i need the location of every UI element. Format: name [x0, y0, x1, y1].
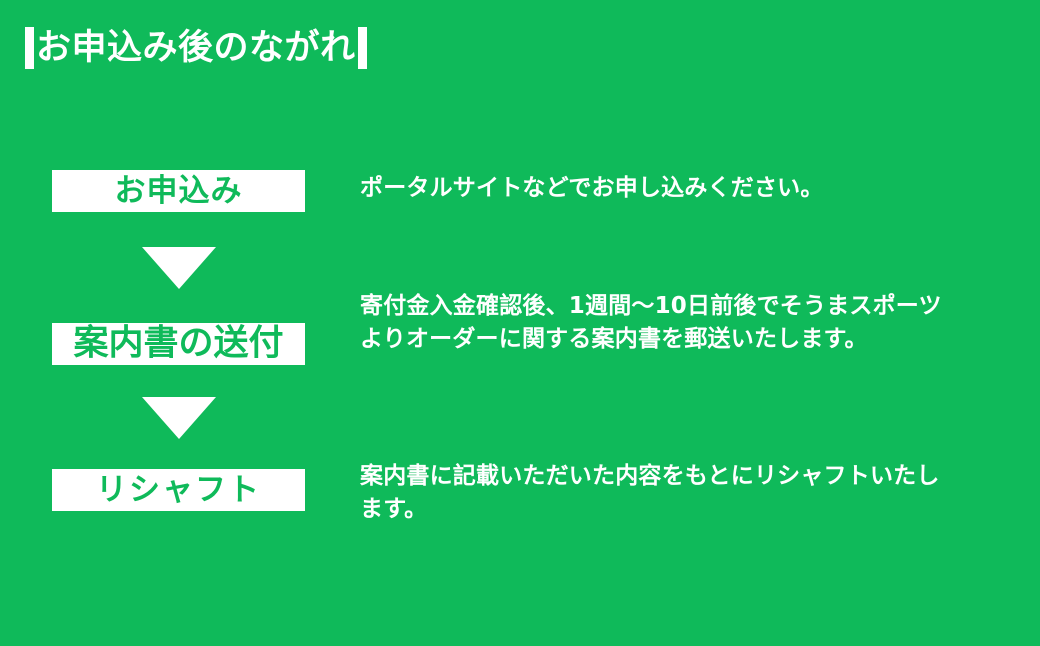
flow-step-description-2: 寄付金入金確認後、1週間〜10日前後でそうまスポーツよりオーダーに関する案内書を…: [360, 290, 960, 357]
flow-connector-1: [52, 247, 305, 289]
flow-step-box-2: 案内書の送付: [52, 323, 305, 365]
triangle-down-icon: [142, 397, 216, 439]
spacer-3: [52, 365, 305, 397]
spacer-1: [52, 212, 305, 247]
page-title-text: お申込み後のながれ: [34, 27, 358, 69]
page-title: お申込み後のながれ: [25, 22, 367, 74]
flow-connector-2: [52, 397, 305, 439]
flow-step-box-1: お申込み: [52, 170, 305, 212]
flow-step-description-1: ポータルサイトなどでお申し込みください。: [360, 172, 960, 205]
title-right-bar-icon: [358, 27, 367, 69]
flow-step-label-1: お申込み: [115, 176, 243, 207]
flow-diagram: お申込み 案内書の送付 リシャフト: [52, 170, 305, 511]
spacer-2: [52, 289, 305, 323]
flow-step-label-3: リシャフト: [96, 475, 261, 506]
spacer-4: [52, 439, 305, 469]
triangle-down-icon: [142, 247, 216, 289]
flow-step-label-2: 案内書の送付: [73, 327, 283, 362]
flow-step-description-3: 案内書に記載いただいた内容をもとにリシャフトいたします。: [360, 460, 960, 527]
flow-step-box-3: リシャフト: [52, 469, 305, 511]
title-left-bar-icon: [25, 27, 34, 69]
